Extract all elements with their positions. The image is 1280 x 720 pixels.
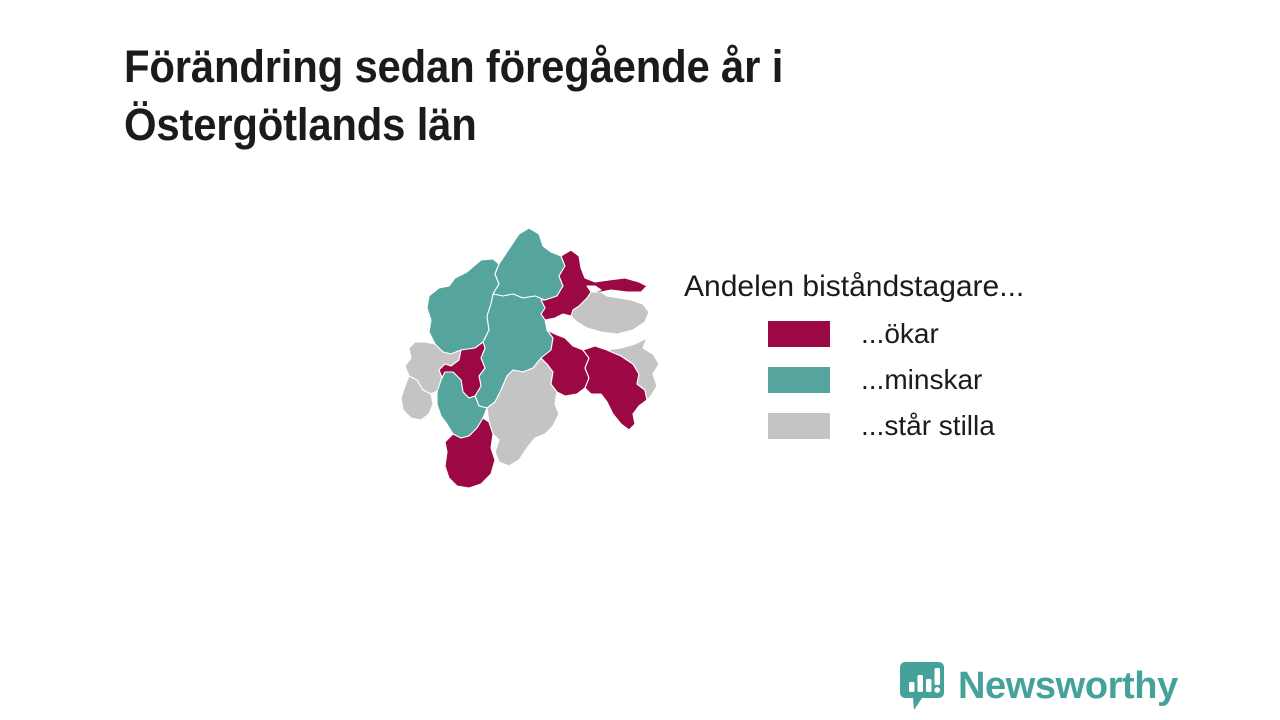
legend-item-okar[interactable]: ...ökar (684, 311, 1144, 357)
legend-swatch-star-stilla (768, 413, 830, 439)
speech-bubble-bar-chart-icon (898, 660, 946, 712)
legend-item-star-stilla[interactable]: ...står stilla (684, 403, 1144, 449)
map-legend: Andelen biståndstagare... ...ökar ...min… (684, 270, 1144, 449)
map-region-norrkoping-north[interactable] (493, 228, 565, 300)
legend-swatch-okar (768, 321, 830, 347)
legend-label-minskar: ...minskar (861, 366, 982, 394)
choropleth-map (395, 212, 695, 532)
map-svg (395, 212, 695, 532)
brand-name: Newsworthy (958, 667, 1178, 705)
legend-label-okar: ...ökar (861, 320, 939, 348)
legend-title: Andelen biståndstagare... (684, 270, 1144, 303)
legend-label-star-stilla: ...står stilla (861, 412, 995, 440)
legend-item-minskar[interactable]: ...minskar (684, 357, 1144, 403)
legend-swatch-minskar (768, 367, 830, 393)
page-title: Förändring sedan föregående år i Östergö… (124, 38, 961, 153)
brand-logo[interactable]: Newsworthy (898, 660, 1178, 712)
